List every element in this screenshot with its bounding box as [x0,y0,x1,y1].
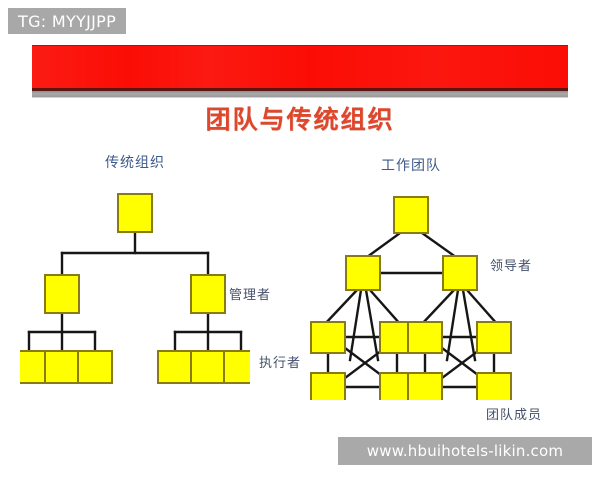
node-member-left-1 [311,322,345,353]
site-watermark: www.hbuihotels-likin.com [338,437,592,465]
node-member-right-4 [477,373,511,400]
node-executor-5 [191,351,225,383]
right-diagram-heading: 工作团队 [381,155,441,175]
banner-decoration [32,45,568,97]
work-team-network [300,185,515,400]
left-nodes [20,194,250,383]
node-executor-1 [20,351,46,383]
tg-watermark-badge: TG: MYYJJPP [8,8,126,34]
annotation-manager: 管理者 [229,284,271,303]
annotation-leader: 领导者 [490,255,532,274]
node-leader-1 [346,256,380,290]
node-manager-1 [45,275,79,313]
node-root-team [394,197,428,233]
node-executor-6 [224,351,250,383]
left-diagram-heading: 传统组织 [105,152,165,172]
node-executor-2 [45,351,79,383]
node-executor-3 [78,351,112,383]
slide-title: 团队与传统组织 [0,100,600,136]
node-leader-2 [443,256,477,290]
traditional-org-chart [20,185,250,385]
slide-canvas: TG: MYYJJPP 团队与传统组织 传统组织 工作团队 管理者 执行者 领导… [0,0,600,480]
node-member-left-3 [311,373,345,400]
node-manager-2 [191,275,225,313]
annotation-team-member: 团队成员 [486,404,542,423]
node-member-right-3 [408,373,442,400]
node-executor-4 [158,351,192,383]
right-nodes [311,197,511,400]
node-member-right-1 [408,322,442,353]
annotation-executor: 执行者 [259,352,301,371]
banner-gray-bar [32,91,568,98]
banner-red-bar [32,45,568,88]
node-member-right-2 [477,322,511,353]
node-root-traditional [118,194,152,232]
